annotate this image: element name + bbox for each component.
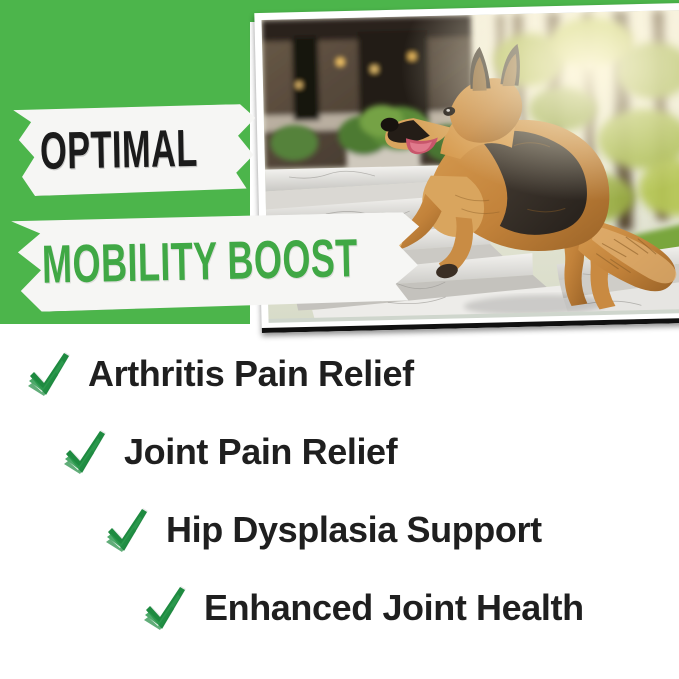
green-check-icon — [104, 504, 152, 556]
list-item-label: Joint Pain Relief — [124, 431, 397, 473]
list-item: Enhanced Joint Health — [142, 582, 584, 634]
green-check-icon — [62, 426, 110, 478]
green-check-icon — [142, 582, 190, 634]
headline-banner-secondary: MOBILITY BOOST — [11, 212, 425, 313]
headline-line-1: OPTIMAL — [39, 119, 198, 182]
headline-banner-primary: OPTIMAL — [13, 104, 267, 197]
list-item-label: Arthritis Pain Relief — [88, 353, 414, 395]
green-check-icon — [26, 348, 74, 400]
product-infographic: OPTIMAL MOBILITY BOOST Arthritis Pain Re… — [0, 0, 679, 679]
list-item-label: Enhanced Joint Health — [204, 587, 584, 629]
benefits-list: Arthritis Pain Relief Joint Pain Relief … — [0, 336, 679, 679]
headline-line-2: MOBILITY BOOST — [41, 229, 358, 297]
list-item-label: Hip Dysplasia Support — [166, 509, 542, 551]
list-item: Joint Pain Relief — [62, 426, 397, 478]
list-item: Hip Dysplasia Support — [104, 504, 542, 556]
list-item: Arthritis Pain Relief — [26, 348, 414, 400]
